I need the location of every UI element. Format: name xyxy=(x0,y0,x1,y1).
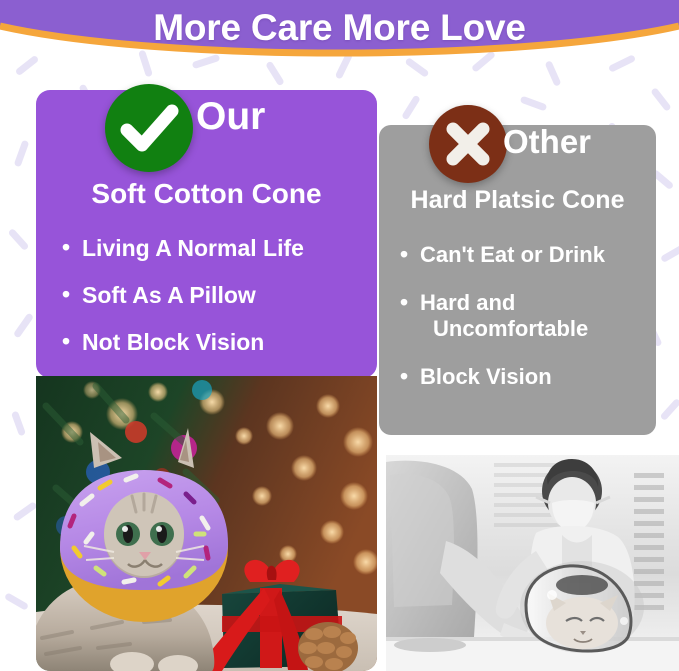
drawback-item: Hard andUncomfortable xyxy=(400,290,650,342)
confetti-sprinkle xyxy=(4,592,29,611)
confetti-sprinkle xyxy=(11,411,26,437)
confetti-sprinkle xyxy=(12,501,37,522)
other-product-photo xyxy=(386,455,679,671)
drawback-item: Can't Eat or Drink xyxy=(400,242,650,268)
confetti-sprinkle xyxy=(265,61,285,87)
confetti-sprinkle xyxy=(660,398,679,421)
other-drawback-list: Can't Eat or DrinkHard andUncomfortableB… xyxy=(400,242,650,412)
our-label: Our xyxy=(196,97,265,136)
benefit-item: Soft As A Pillow xyxy=(62,282,372,309)
other-photo-svg xyxy=(386,455,679,671)
our-product-photo xyxy=(36,376,377,671)
x-circle-icon xyxy=(429,105,507,183)
confetti-sprinkle xyxy=(401,95,421,121)
drawback-item-line2: Uncomfortable xyxy=(420,316,650,342)
confetti-sprinkle xyxy=(650,87,672,112)
our-benefit-list: Living A Normal LifeSoft As A PillowNot … xyxy=(62,235,372,376)
confetti-sprinkle xyxy=(13,312,34,338)
benefit-item: Not Block Vision xyxy=(62,329,372,356)
check-mark-glyph xyxy=(105,84,193,172)
our-photo-svg xyxy=(36,376,377,671)
confetti-sprinkle xyxy=(8,228,30,251)
drawback-item: Block Vision xyxy=(400,364,650,390)
confetti-sprinkle xyxy=(545,60,562,87)
other-subtitle: Hard Platsic Cone xyxy=(379,186,656,215)
our-subtitle: Soft Cotton Cone xyxy=(36,178,377,210)
page-title: More Care More Love xyxy=(0,0,679,56)
check-circle-icon xyxy=(105,84,193,172)
other-label: Other xyxy=(503,125,591,158)
x-mark-glyph xyxy=(429,105,507,183)
infographic-canvas: More Care More Love Our Other Soft Cotto… xyxy=(0,0,679,671)
benefit-item: Living A Normal Life xyxy=(62,235,372,262)
confetti-sprinkle xyxy=(14,140,30,168)
confetti-sprinkle xyxy=(520,96,548,112)
confetti-sprinkle xyxy=(660,244,679,263)
